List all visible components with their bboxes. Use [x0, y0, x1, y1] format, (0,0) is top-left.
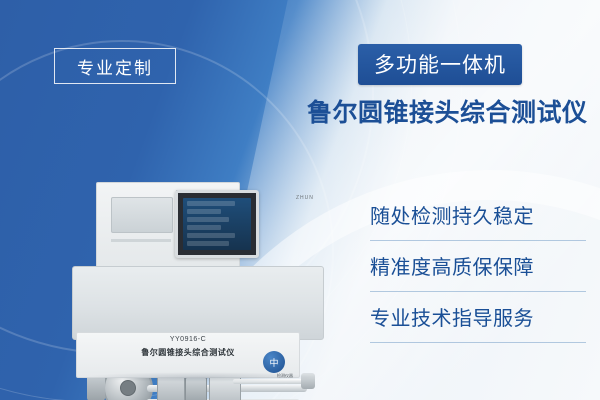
manufacturer-logo-icon: 中 [263, 351, 285, 373]
product-photo: ZHUN YY0916-C 鲁尔圆锥接头综合测试仪 中 [72, 182, 322, 372]
machine-touchscreen: ZHUN [175, 190, 259, 258]
promo-banner: 专业定制 多功能一体机 鲁尔圆锥接头综合测试仪 随处检测持久稳定 精准度高质保保… [0, 0, 600, 400]
feature-list: 随处检测持久稳定 精准度高质保保障 专业技术指导服务 [370, 190, 586, 343]
machine-base [72, 266, 324, 340]
machine-back-panel-window [111, 197, 173, 233]
headline-pill: 多功能一体机 [358, 44, 522, 85]
feature-item: 随处检测持久稳定 [370, 190, 586, 241]
machine-back-panel-slot [111, 239, 171, 242]
product-model-label: YY0916-C [77, 336, 299, 343]
headline-subtitle: 鲁尔圆锥接头综合测试仪 [307, 93, 588, 129]
screen-ui [183, 198, 251, 250]
custom-made-badge: 专业定制 [54, 48, 176, 84]
screen-brand-label: ZHUN [296, 195, 314, 201]
feature-item: 精准度高质保保障 [370, 241, 586, 292]
machine-shadow [82, 372, 318, 382]
feature-item: 专业技术指导服务 [370, 292, 586, 343]
